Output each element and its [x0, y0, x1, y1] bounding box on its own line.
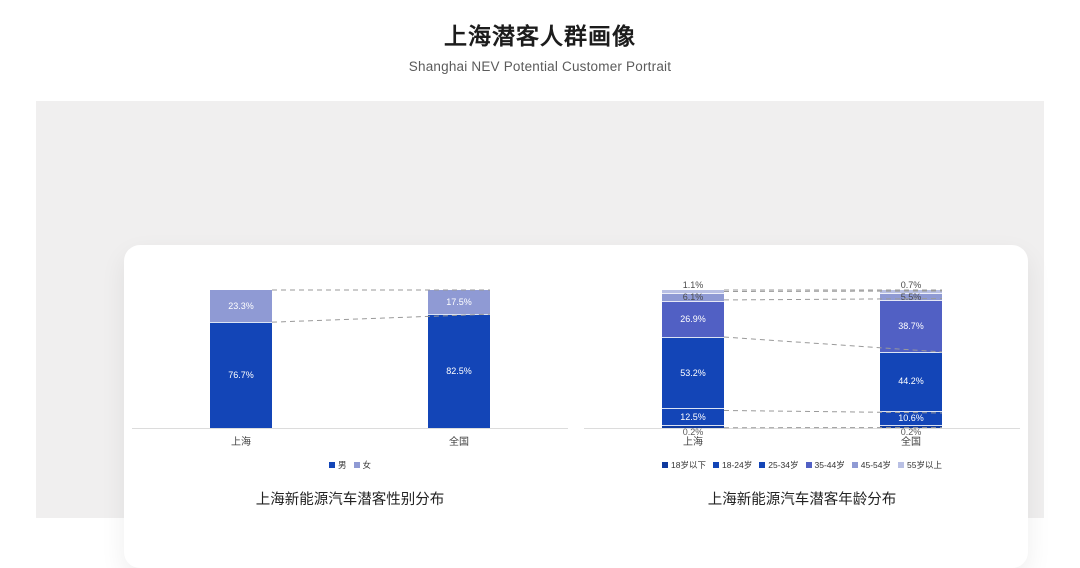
bar-segment[interactable]: 0.2% — [662, 425, 724, 428]
bar-segment[interactable]: 10.6% — [880, 411, 942, 425]
category-labels: 上海全国 — [576, 433, 1028, 449]
legend-swatch-icon — [806, 462, 812, 468]
chart-legend: 18岁以下18-24岁25-34岁35-44岁45-54岁55岁以上 — [576, 459, 1028, 471]
legend-item[interactable]: 女 — [354, 459, 372, 471]
bar-segment[interactable]: 26.9% — [662, 301, 724, 337]
segment-value-label: 76.7% — [228, 371, 254, 380]
chart-caption: 上海新能源汽车潜客性别分布 — [124, 488, 576, 509]
bar-segment[interactable]: 12.5% — [662, 408, 724, 425]
x-axis-line — [132, 428, 568, 429]
legend-label: 18-24岁 — [722, 459, 752, 471]
content-panel: 23.3%76.7%17.5%82.5%上海全国男女上海新能源汽车潜客性别分布1… — [36, 101, 1044, 518]
legend-label: 18岁以下 — [671, 459, 706, 471]
segment-value-label: 12.5% — [680, 413, 706, 422]
connector-lines — [576, 289, 1028, 429]
bar-segment[interactable]: 82.5% — [428, 314, 490, 428]
page-header: 上海潜客人群画像 Shanghai NEV Potential Customer… — [0, 0, 1080, 74]
bar-segment[interactable]: 0.2% — [880, 425, 942, 428]
segment-value-label: 38.7% — [898, 322, 924, 331]
legend-label: 25-34岁 — [768, 459, 798, 471]
category-label: 全国 — [428, 433, 490, 448]
bar-segment[interactable]: 17.5% — [428, 290, 490, 314]
chart-gender-distribution: 23.3%76.7%17.5%82.5%上海全国男女上海新能源汽车潜客性别分布 — [124, 245, 576, 568]
legend-item[interactable]: 18岁以下 — [662, 459, 706, 471]
plot-area: 23.3%76.7%17.5%82.5% — [124, 289, 576, 429]
bar-segment[interactable]: 44.2% — [880, 352, 942, 411]
x-axis-line — [584, 428, 1020, 429]
segment-value-label: 1.1% — [683, 281, 704, 290]
legend-label: 女 — [363, 459, 372, 471]
bar-segment[interactable]: 53.2% — [662, 337, 724, 408]
page-subtitle: Shanghai NEV Potential Customer Portrait — [0, 59, 1080, 74]
legend-item[interactable]: 18-24岁 — [713, 459, 752, 471]
legend-swatch-icon — [354, 462, 360, 468]
chart-age-distribution: 1.1%6.1%26.9%53.2%12.5%0.2%0.7%5.5%38.7%… — [576, 245, 1028, 568]
segment-value-label: 53.2% — [680, 369, 706, 378]
bar-segment[interactable]: 6.1% — [662, 293, 724, 301]
legend-swatch-icon — [713, 462, 719, 468]
legend-item[interactable]: 25-34岁 — [759, 459, 798, 471]
stacked-bar-全国[interactable]: 0.7%5.5%38.7%44.2%10.6%0.2% — [880, 290, 942, 428]
legend-label: 55岁以上 — [907, 459, 942, 471]
chart-caption: 上海新能源汽车潜客年龄分布 — [576, 488, 1028, 509]
chart-legend: 男女 — [124, 459, 576, 471]
bar-segment[interactable]: 76.7% — [210, 322, 272, 428]
legend-swatch-icon — [898, 462, 904, 468]
segment-value-label: 82.5% — [446, 367, 472, 376]
segment-value-label: 17.5% — [446, 298, 472, 307]
charts-row: 23.3%76.7%17.5%82.5%上海全国男女上海新能源汽车潜客性别分布1… — [124, 245, 1028, 568]
legend-swatch-icon — [329, 462, 335, 468]
bar-segment[interactable]: 5.5% — [880, 293, 942, 300]
legend-item[interactable]: 35-44岁 — [806, 459, 845, 471]
bar-segment[interactable]: 23.3% — [210, 290, 272, 322]
stacked-bar-上海[interactable]: 23.3%76.7% — [210, 290, 272, 428]
category-labels: 上海全国 — [124, 433, 576, 449]
category-label: 上海 — [210, 433, 272, 448]
segment-value-label: 23.3% — [228, 302, 254, 311]
bar-segment[interactable]: 38.7% — [880, 300, 942, 352]
legend-swatch-icon — [852, 462, 858, 468]
segment-value-label: 44.2% — [898, 377, 924, 386]
legend-item[interactable]: 男 — [329, 459, 347, 471]
category-label: 上海 — [662, 433, 724, 448]
segment-value-label: 0.7% — [901, 281, 922, 290]
stacked-bar-全国[interactable]: 17.5%82.5% — [428, 290, 490, 428]
legend-item[interactable]: 45-54岁 — [852, 459, 891, 471]
segment-value-label: 26.9% — [680, 315, 706, 324]
segment-value-label: 10.6% — [898, 414, 924, 423]
legend-swatch-icon — [759, 462, 765, 468]
legend-label: 35-44岁 — [815, 459, 845, 471]
category-label: 全国 — [880, 433, 942, 448]
stacked-bar-上海[interactable]: 1.1%6.1%26.9%53.2%12.5%0.2% — [662, 290, 724, 428]
charts-card: 23.3%76.7%17.5%82.5%上海全国男女上海新能源汽车潜客性别分布1… — [124, 245, 1028, 568]
legend-swatch-icon — [662, 462, 668, 468]
legend-label: 男 — [338, 459, 347, 471]
legend-item[interactable]: 55岁以上 — [898, 459, 942, 471]
plot-area: 1.1%6.1%26.9%53.2%12.5%0.2%0.7%5.5%38.7%… — [576, 289, 1028, 429]
page-title: 上海潜客人群画像 — [0, 22, 1080, 52]
connector-lines — [124, 289, 576, 429]
legend-label: 45-54岁 — [861, 459, 891, 471]
